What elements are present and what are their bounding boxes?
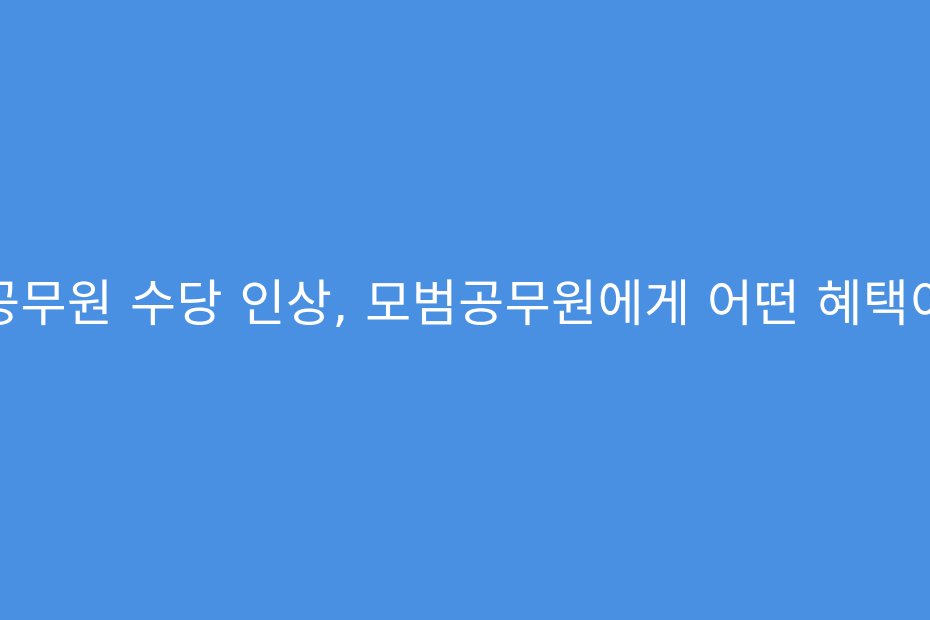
banner-canvas: 공무원 수당 인상, 모범공무원에게 어떤 혜택이 — [0, 0, 930, 620]
headline-container: 공무원 수당 인상, 모범공무원에게 어떤 혜택이 — [0, 0, 930, 620]
banner-headline: 공무원 수당 인상, 모범공무원에게 어떤 혜택이 — [0, 279, 930, 329]
